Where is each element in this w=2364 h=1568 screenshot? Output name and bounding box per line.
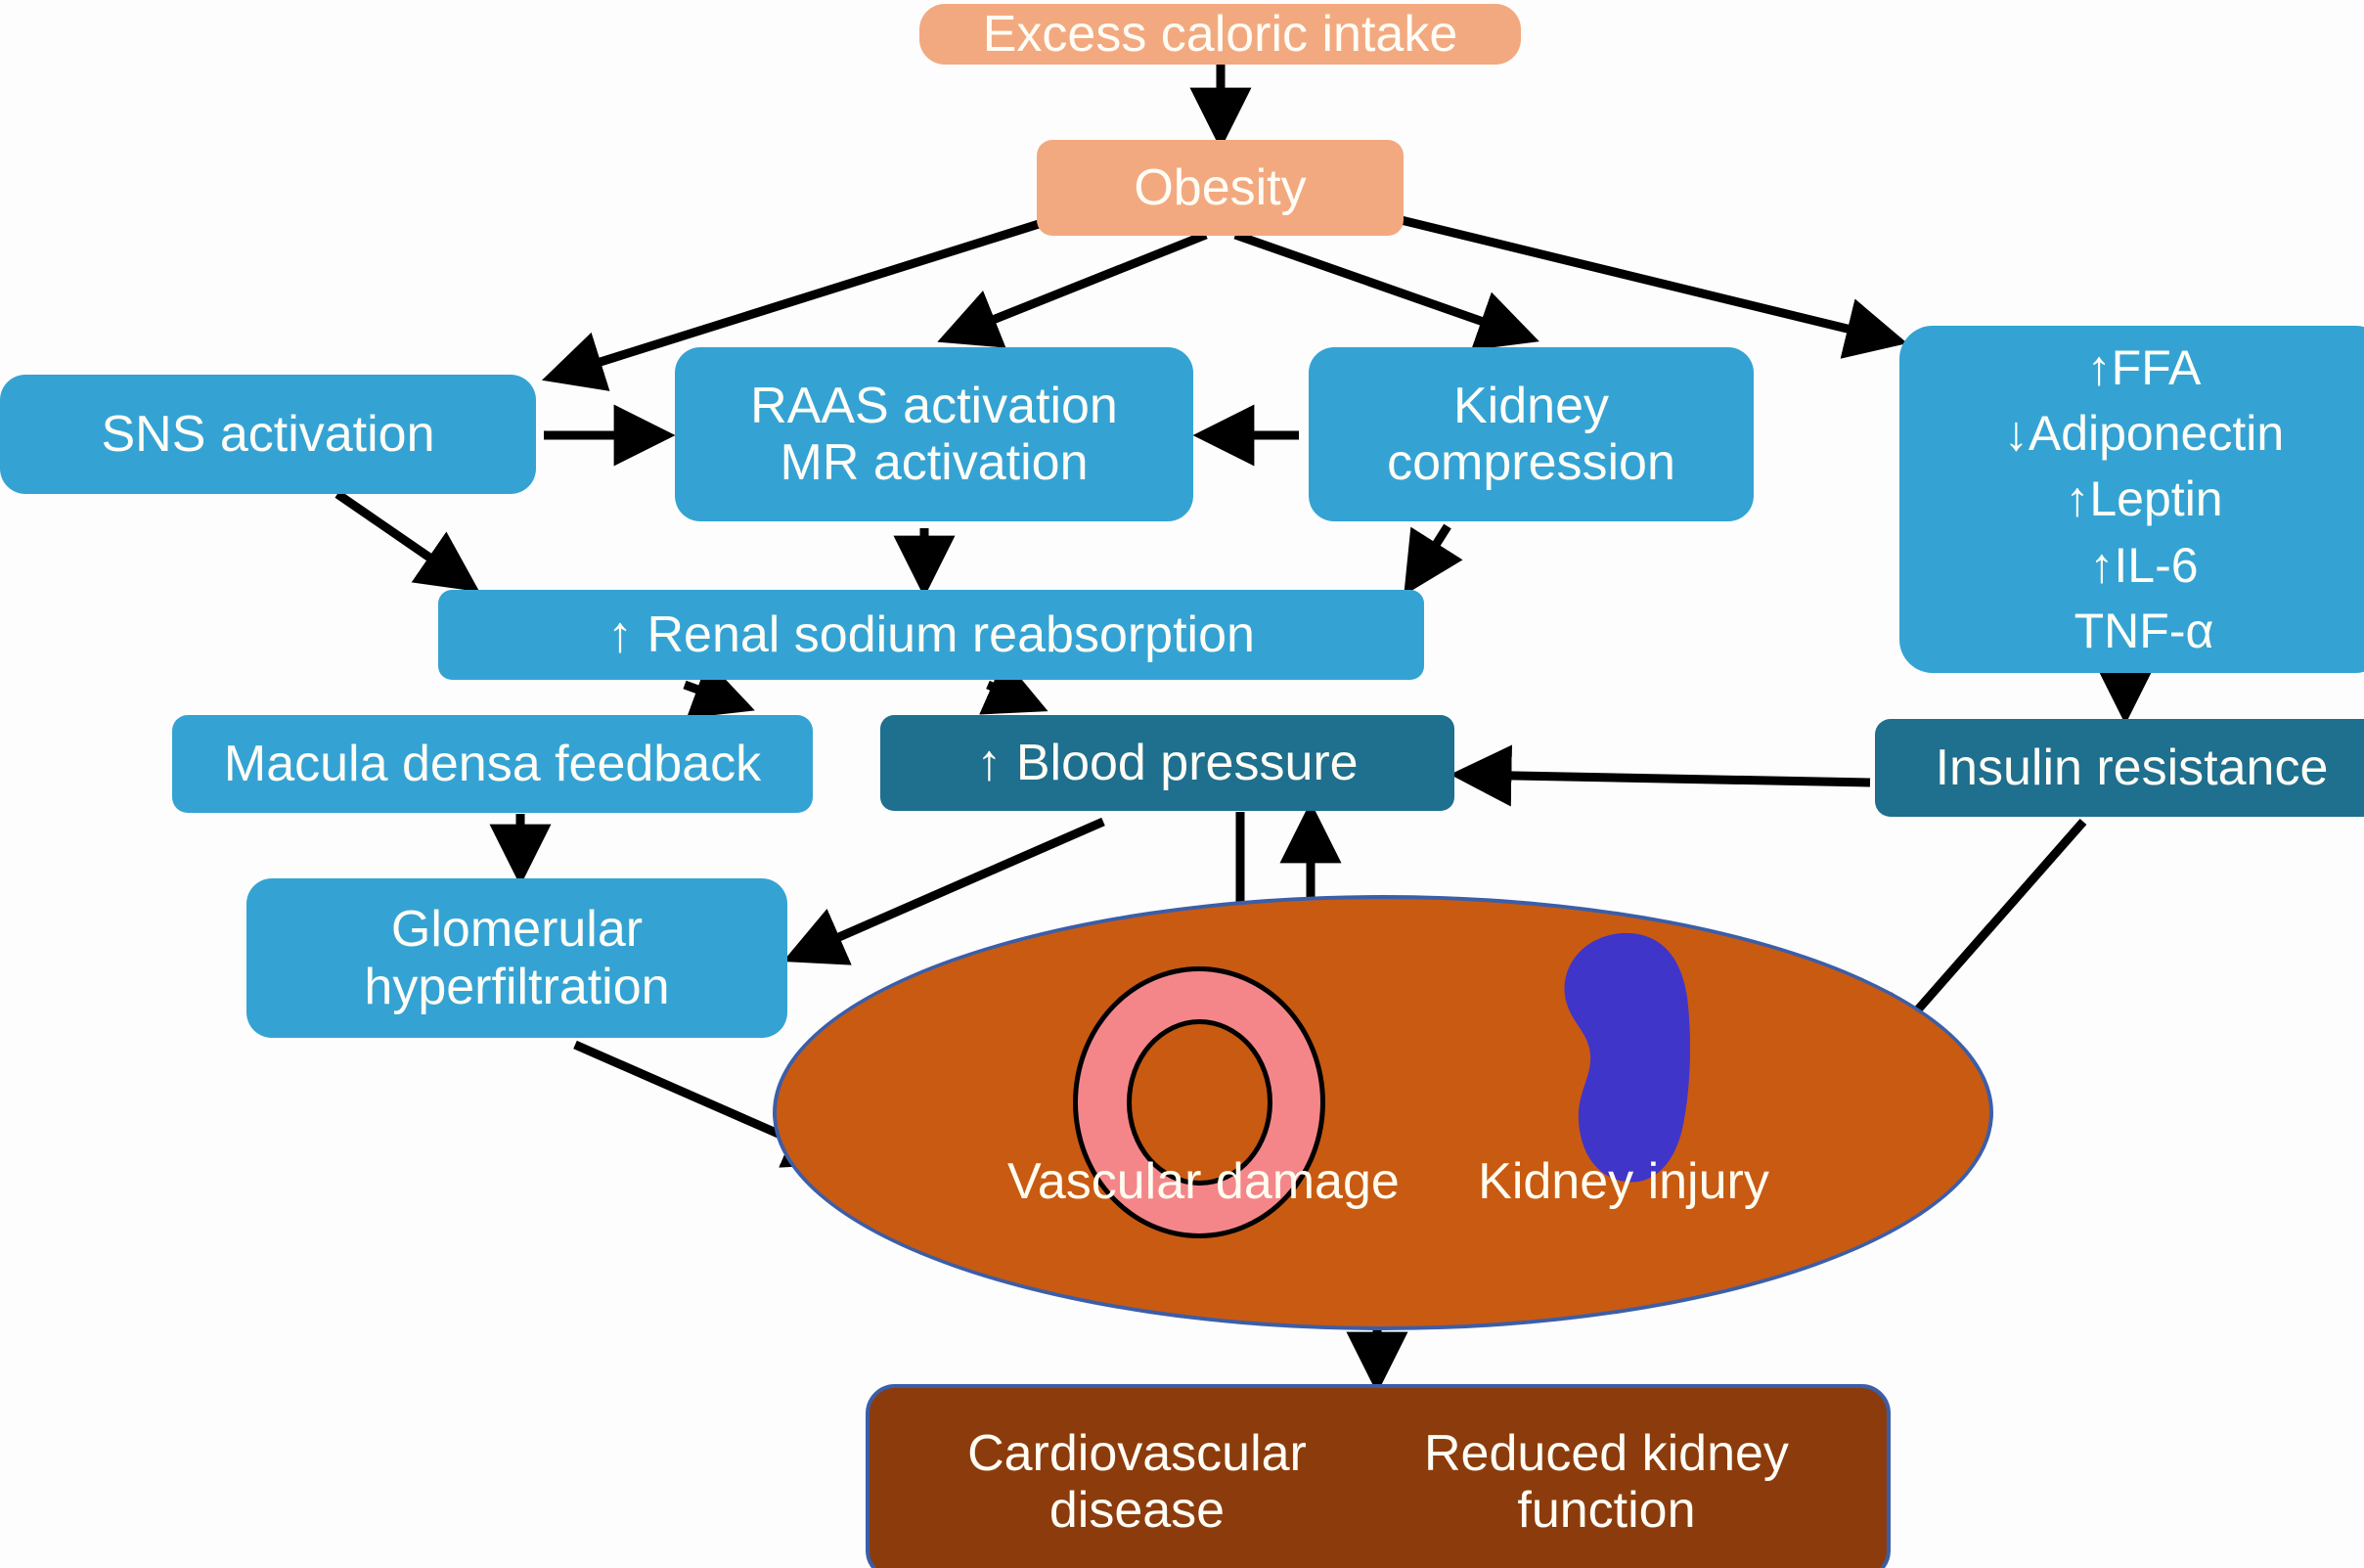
outcome-ellipse[interactable] <box>773 895 1993 1330</box>
edge-obesity-to-adipokines <box>1353 208 1896 340</box>
node-label: Excess caloric intake <box>983 6 1458 63</box>
node-label-line-1: Kidney <box>1453 378 1609 434</box>
node-label-line-2: compression <box>1387 434 1675 491</box>
final-outcome-reduced-kidney-function: Reduced kidney function <box>1424 1425 1789 1539</box>
final-outcome-cardiovascular-disease: Cardiovascular disease <box>967 1425 1307 1539</box>
node-insulin-resistance[interactable]: Insulin resistance <box>1875 719 2364 817</box>
node-label-line-1: RAAS activation <box>750 378 1118 434</box>
kidney-injury-label: Kidney injury <box>1457 1152 1790 1211</box>
node-adipokines[interactable]: ↑FFA ↓Adiponectin ↑Leptin ↑IL-6 TNF-α <box>1899 326 2364 673</box>
node-excess-caloric-intake[interactable]: Excess caloric intake <box>919 4 1521 65</box>
node-label-line-1: ↑FFA <box>2087 340 2202 395</box>
node-final-outcomes[interactable]: Cardiovascular disease Reduced kidney fu… <box>866 1384 1891 1568</box>
node-glomerular-hyperfiltration[interactable]: Glomerular hyperfiltration <box>246 878 787 1038</box>
node-blood-pressure[interactable]: ↑ Blood pressure <box>880 715 1454 811</box>
edge-obesity-to-raas <box>949 235 1206 337</box>
edge-kidney-compression-to-renal-sodium <box>1410 526 1448 585</box>
final-outcome-label-line-2: disease <box>1049 1482 1225 1539</box>
node-label-line-2: hyperfiltration <box>364 959 669 1015</box>
node-label-line-5: TNF-α <box>2074 604 2214 658</box>
node-label-line-2: MR activation <box>781 434 1089 491</box>
edge-renal-sodium-to-blood-pressure <box>988 685 1037 706</box>
node-label-line-4: ↑IL-6 <box>2089 538 2198 593</box>
node-label: ↑ Renal sodium reabsorption <box>607 606 1255 663</box>
node-label: ↑ Blood pressure <box>976 735 1358 791</box>
edge-sns-to-renal-sodium <box>337 494 469 585</box>
node-macula-densa-feedback[interactable]: Macula densa feedback <box>172 715 813 813</box>
flowchart-canvas: Excess caloric intake Obesity SNS activa… <box>0 0 2364 1568</box>
edge-obesity-to-kidney-compression <box>1235 235 1528 337</box>
node-label-line-1: Glomerular <box>391 901 643 958</box>
node-label: Macula densa feedback <box>224 736 761 792</box>
kidney-injury-icon <box>1536 929 1712 1188</box>
node-raas-mr-activation[interactable]: RAAS activation MR activation <box>675 347 1193 521</box>
node-obesity[interactable]: Obesity <box>1037 140 1404 236</box>
edge-insulin-resistance-to-blood-pressure <box>1462 775 1870 783</box>
node-label: SNS activation <box>101 406 434 463</box>
node-sns-activation[interactable]: SNS activation <box>0 375 536 494</box>
final-outcome-label-line-2: function <box>1517 1482 1695 1539</box>
node-label-line-2: ↓Adiponectin <box>2004 406 2284 461</box>
final-outcome-label-line-1: Cardiovascular <box>967 1425 1307 1482</box>
node-renal-sodium-reabsorption[interactable]: ↑ Renal sodium reabsorption <box>438 590 1424 680</box>
final-outcome-label-line-1: Reduced kidney <box>1424 1425 1789 1482</box>
node-kidney-compression[interactable]: Kidney compression <box>1309 347 1754 521</box>
node-label: Insulin resistance <box>1936 739 2329 796</box>
vascular-damage-label: Vascular damage <box>1007 1152 1379 1211</box>
edge-renal-sodium-to-macula-densa <box>685 685 743 706</box>
node-label-line-3: ↑Leptin <box>2065 471 2222 526</box>
node-label: Obesity <box>1134 159 1306 216</box>
